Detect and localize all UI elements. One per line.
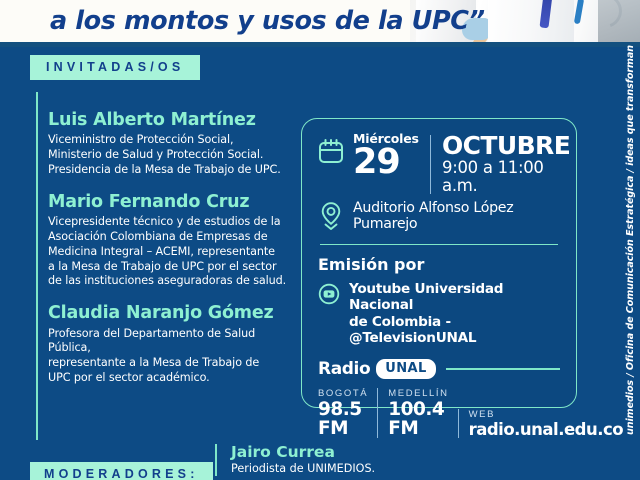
speaker-role: Profesora del Departamento de Salud Públ… — [48, 327, 298, 387]
radio-row: Radio UNAL — [318, 359, 560, 379]
header-band: a los montos y usos de la UPC” — [0, 0, 640, 42]
photo-coat-center — [488, 0, 574, 42]
list-item: Claudia Naranjo Gómez Profesora del Depa… — [48, 303, 298, 386]
photo-background-dark — [598, 0, 640, 42]
speaker-name: Mario Fernando Cruz — [48, 192, 298, 212]
location-pin-icon — [318, 201, 344, 231]
event-place: Auditorio Alfonso López Pumarejo — [353, 200, 560, 232]
date-row: Miércoles 29 OCTUBRE 9:00 a 11:00 a.m. — [318, 133, 560, 196]
calendar-icon — [318, 138, 344, 165]
date-text: Miércoles 29 OCTUBRE 9:00 a 11:00 a.m. — [353, 133, 570, 196]
list-item: Mario Fernando Cruz Vicepresidente técni… — [48, 192, 298, 290]
speaker-role: Vicepresidente técnico y de estudios de … — [48, 215, 298, 289]
event-time: 9:00 a 11:00 a.m. — [442, 159, 570, 195]
frequency-item: MEDELLÍN 100.4 FM — [377, 388, 457, 438]
left-accent-line — [36, 92, 38, 440]
page-title: a los montos y usos de la UPC” — [28, 0, 448, 42]
youtube-row[interactable]: Youtube Universidad Nacional de Colombia… — [318, 281, 560, 346]
date-month-block: OCTUBRE 9:00 a 11:00 a.m. — [431, 133, 570, 196]
badge-moderadores: MODERADORES: — [30, 462, 213, 480]
moderator-role: Periodista de UNIMEDIOS. — [231, 462, 455, 476]
frequency-item: BOGOTÁ 98.5 FM — [318, 388, 377, 438]
frequency-value: 98.5 FM — [318, 401, 368, 438]
photo-pen — [574, 0, 584, 24]
radio-word: Radio — [318, 359, 370, 379]
radio-unal-logo: Radio UNAL — [318, 359, 436, 379]
frequency-row: BOGOTÁ 98.5 FM MEDELLÍN 100.4 FM WEB rad… — [318, 388, 560, 438]
frequency-item[interactable]: WEB radio.unal.edu.co — [458, 409, 633, 439]
speaker-name: Claudia Naranjo Gómez — [48, 303, 298, 323]
event-info-card: Miércoles 29 OCTUBRE 9:00 a 11:00 a.m. A… — [301, 118, 577, 408]
frequency-value: 100.4 FM — [388, 401, 448, 438]
youtube-icon[interactable] — [318, 283, 340, 305]
frequency-city: BOGOTÁ — [318, 388, 368, 399]
date-month: OCTUBRE — [442, 133, 570, 159]
speaker-name: Luis Alberto Martínez — [48, 110, 298, 130]
place-row: Auditorio Alfonso López Pumarejo — [318, 200, 560, 232]
event-poster: a los montos y usos de la UPC” INVITADAS… — [0, 0, 640, 480]
moderator-item: Jairo Currea Periodista de UNIMEDIOS. — [215, 444, 455, 476]
header-divider — [0, 42, 640, 47]
youtube-channel: Youtube Universidad Nacional de Colombia… — [349, 281, 560, 346]
speakers-list: Luis Alberto Martínez Viceministro de Pr… — [48, 110, 298, 400]
card-divider — [320, 244, 558, 245]
frequency-city: WEB — [469, 409, 624, 420]
badge-invitadas: INVITADAS/OS — [30, 55, 200, 80]
radio-rule — [446, 368, 560, 369]
emision-label: Emisión por — [318, 255, 560, 274]
radio-unal-pill: UNAL — [376, 359, 435, 379]
speaker-role: Viceministro de Protección Social, Minis… — [48, 133, 298, 178]
date-day: 29 — [353, 147, 419, 178]
frequency-city: MEDELLÍN — [388, 388, 448, 399]
unimedios-credit: unimedios / Oficina de Comunicación Estr… — [625, 45, 636, 435]
date-day-block: Miércoles 29 — [353, 133, 430, 196]
frequency-value[interactable]: radio.unal.edu.co — [469, 422, 624, 439]
moderator-name: Jairo Currea — [231, 444, 455, 461]
list-item: Luis Alberto Martínez Viceministro de Pr… — [48, 110, 298, 178]
